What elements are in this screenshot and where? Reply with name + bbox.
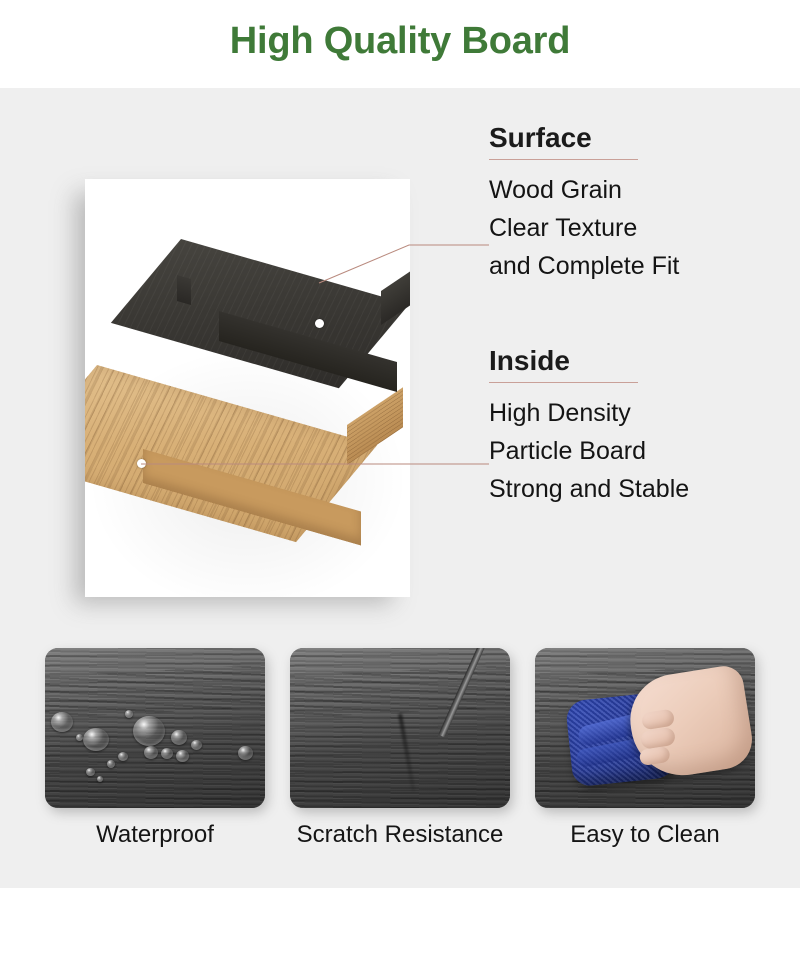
spec-rule-surface — [489, 159, 638, 160]
feature-waterproof: Waterproof — [45, 648, 265, 848]
feature-easy-to-clean: Easy to Clean — [535, 648, 755, 848]
water-droplet-icon — [107, 760, 115, 768]
spec-body-surface: Wood Grain Clear Texture and Complete Fi… — [489, 171, 789, 285]
spec-block-surface: Surface Wood Grain Clear Texture and Com… — [489, 122, 789, 285]
water-droplet-icon — [97, 776, 103, 782]
finger — [639, 746, 671, 766]
infographic-page: High Quality Board — [0, 0, 800, 977]
water-droplet-icon — [176, 750, 189, 762]
dark-left-edge — [177, 275, 191, 305]
dark-laminate-board — [181, 239, 410, 419]
feature-label-scratch: Scratch Resistance — [290, 822, 510, 848]
product-photo-card — [85, 179, 410, 597]
water-droplet-icon — [238, 746, 253, 760]
spec-line: Particle Board — [489, 432, 789, 470]
spec-list: Surface Wood Grain Clear Texture and Com… — [489, 122, 789, 508]
spec-rule-inside — [489, 382, 638, 383]
feature-row: Waterproof Scratch Resistance — [0, 648, 800, 848]
feature-thumb-clean — [535, 648, 755, 808]
water-droplet-icon — [171, 730, 187, 745]
spec-line: Wood Grain — [489, 171, 789, 209]
spec-line: Strong and Stable — [489, 470, 789, 508]
water-droplet-icon — [161, 748, 173, 759]
feature-label-waterproof: Waterproof — [45, 822, 265, 848]
feature-thumb-waterproof — [45, 648, 265, 808]
spec-line: and Complete Fit — [489, 247, 789, 285]
water-droplet-icon — [125, 710, 133, 718]
water-droplet-icon — [191, 740, 202, 750]
inside-callout-dot-icon — [137, 459, 146, 468]
spec-heading-inside: Inside — [489, 345, 789, 382]
water-droplet-icon — [86, 768, 95, 776]
water-droplet-icon — [118, 752, 128, 761]
water-droplet-icon — [76, 734, 83, 741]
water-droplet-icon — [51, 712, 73, 732]
water-droplet-icon — [83, 728, 109, 751]
spec-body-inside: High Density Particle Board Strong and S… — [489, 394, 789, 508]
feature-scratch-resistance: Scratch Resistance — [290, 648, 510, 848]
spec-line: High Density — [489, 394, 789, 432]
feature-label-clean: Easy to Clean — [535, 822, 755, 848]
spec-block-inside: Inside High Density Particle Board Stron… — [489, 345, 789, 508]
water-droplet-icon — [133, 716, 165, 746]
spec-heading-surface: Surface — [489, 122, 789, 159]
finger — [641, 709, 675, 731]
page-title: High Quality Board — [0, 20, 800, 63]
board-illustration — [85, 179, 410, 597]
spec-line: Clear Texture — [489, 209, 789, 247]
feature-thumb-scratch — [290, 648, 510, 808]
surface-callout-dot-icon — [315, 319, 324, 328]
water-droplet-icon — [144, 746, 158, 759]
